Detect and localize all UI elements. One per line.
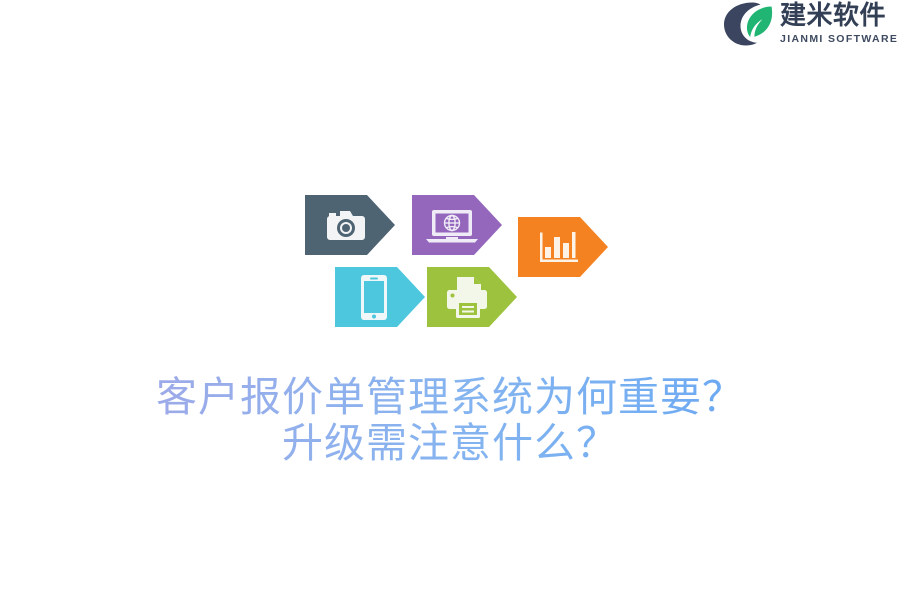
camera-icon bbox=[327, 211, 365, 240]
chevron-tile-mobile bbox=[335, 267, 425, 327]
brand-logo[interactable]: 建米软件 JIANMI SOFTWARE bbox=[722, 0, 900, 48]
chevron-tile-analytics bbox=[518, 217, 608, 277]
smartphone-icon bbox=[361, 275, 387, 320]
page-title-line-1: 客户报价单管理系统为何重要？ bbox=[0, 374, 900, 420]
chevron-icon-group bbox=[0, 0, 900, 600]
bar-chart-icon bbox=[540, 232, 578, 262]
page-title: 客户报价单管理系统为何重要？ 升级需注意什么？ bbox=[0, 374, 900, 466]
chevron-tile-web bbox=[412, 195, 502, 255]
brand-name-cn: 建米软件 bbox=[780, 3, 898, 29]
page-title-line-2: 升级需注意什么？ bbox=[0, 420, 900, 466]
brand-logo-text: 建米软件 JIANMI SOFTWARE bbox=[780, 3, 898, 45]
printer-icon bbox=[447, 277, 487, 318]
laptop-globe-icon bbox=[426, 210, 478, 243]
jianmi-leaf-logo-icon bbox=[722, 1, 774, 47]
chevron-tile-print bbox=[427, 267, 517, 327]
chevron-tile-camera bbox=[305, 195, 395, 255]
brand-name-en: JIANMI SOFTWARE bbox=[780, 34, 898, 45]
